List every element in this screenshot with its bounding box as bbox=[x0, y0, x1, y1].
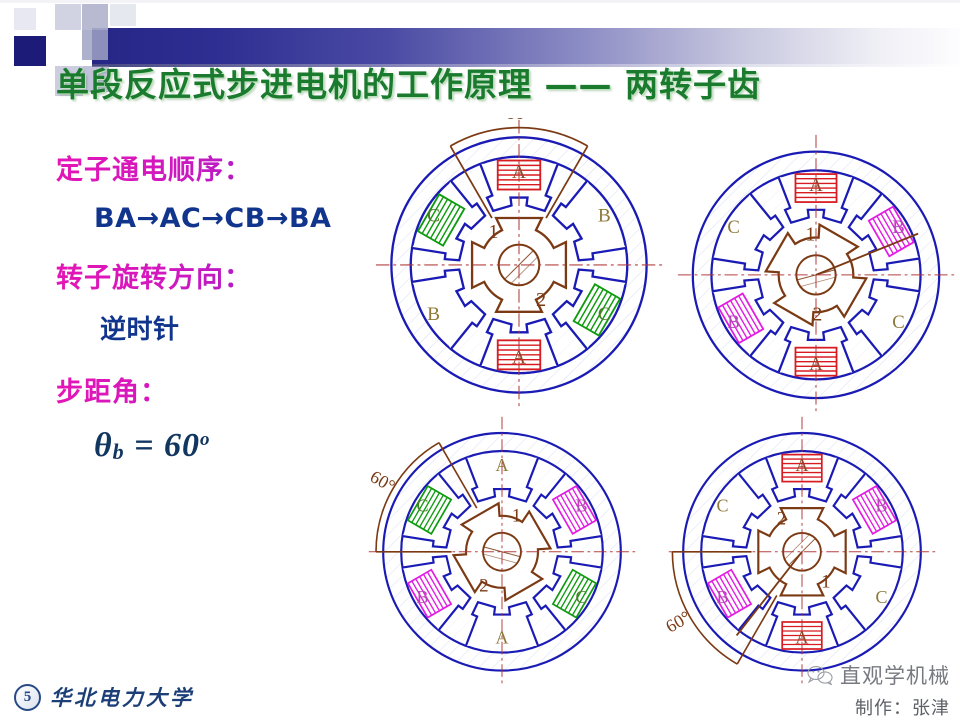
pole-label-C: C bbox=[575, 587, 587, 607]
header-deco-square-2 bbox=[82, 4, 108, 30]
pole-label-B: B bbox=[716, 587, 728, 607]
step-2-AC-energized-svg: ABCABC12 bbox=[676, 133, 956, 413]
header-top-rule bbox=[0, 0, 960, 3]
theta-subscript: b bbox=[113, 439, 125, 464]
watermark-block: 直观学机械 制作：张津 bbox=[807, 660, 950, 720]
slide-root: 单段反应式步进电机的工作原理 —— 两转子齿 定子通电顺序： BA→AC→CB→… bbox=[0, 0, 960, 720]
university-name: 华北电力大学 bbox=[50, 682, 194, 712]
motor-diagram-step-2: ABCABC12 bbox=[676, 133, 956, 413]
pole-label-B: B bbox=[598, 205, 611, 226]
pole-label-B: B bbox=[727, 312, 739, 333]
rotor-tooth-label-2: 2 bbox=[536, 289, 546, 311]
direction-heading: 转子旋转方向： bbox=[56, 256, 396, 295]
degree-symbol: o bbox=[200, 429, 211, 450]
motor-diagram-step-4: ABCABC1260° bbox=[652, 415, 952, 685]
watermark-row: 直观学机械 bbox=[807, 660, 950, 690]
pole-label-B: B bbox=[416, 587, 428, 607]
rotor-tooth-label-2: 2 bbox=[813, 305, 823, 326]
step-4-BA-energized-svg: ABCABC1260° bbox=[652, 415, 952, 685]
step-1-BA-energized-svg: ABCABC1260° bbox=[374, 118, 664, 408]
university-logo-mark: 5 bbox=[14, 684, 41, 711]
step-angle-formula: θb = 60o bbox=[94, 427, 396, 465]
wechat-icon bbox=[807, 665, 833, 685]
angle-label: 60° bbox=[505, 118, 532, 124]
motor-diagram-step-1: ABCABC1260° bbox=[374, 118, 664, 408]
header-deco-square-3 bbox=[55, 30, 81, 60]
angle-label: 60° bbox=[662, 607, 694, 637]
theta-symbol: θ bbox=[94, 427, 113, 464]
pole-label-C: C bbox=[427, 205, 440, 226]
pole-label-C: C bbox=[875, 587, 887, 607]
header-deco-square-1 bbox=[55, 4, 81, 30]
left-text-panel: 定子通电顺序： BA→AC→CB→BA 转子旋转方向： 逆时针 步距角： θb … bbox=[56, 148, 396, 465]
pole-label-C: C bbox=[716, 495, 728, 515]
pole-label-B: B bbox=[427, 304, 440, 325]
pole-label-C: C bbox=[727, 217, 739, 238]
header-deco-square-light bbox=[110, 4, 136, 26]
sequence-heading: 定子通电顺序： bbox=[56, 148, 396, 187]
page-title: 单段反应式步进电机的工作原理 —— 两转子齿 bbox=[56, 58, 936, 106]
rotor-tooth-label-1: 1 bbox=[806, 225, 816, 246]
header-deco-square-pale bbox=[14, 8, 36, 30]
watermark-title: 直观学机械 bbox=[840, 660, 950, 690]
header-deco-square-dark bbox=[14, 36, 46, 66]
motor-diagram-step-3: ABCABC1260° bbox=[352, 415, 652, 685]
sequence-value: BA→AC→CB→BA bbox=[94, 203, 396, 234]
rotor-tooth-label-1: 1 bbox=[512, 505, 521, 526]
rotor-tooth-label-1: 1 bbox=[821, 572, 830, 593]
pole-label-B: B bbox=[875, 495, 887, 515]
university-logo: 5 华北电力大学 bbox=[14, 682, 194, 712]
direction-value: 逆时针 bbox=[100, 309, 396, 346]
pole-label-B: B bbox=[892, 217, 904, 238]
pole-label-C: C bbox=[416, 495, 428, 515]
rotor-tooth-label-2: 2 bbox=[479, 575, 488, 596]
pole-label-C: C bbox=[892, 312, 904, 333]
pole-label-C: C bbox=[598, 304, 611, 325]
rotor-tooth-label-2: 2 bbox=[777, 508, 786, 529]
header-deco-square-4 bbox=[82, 30, 108, 60]
equals-value: = 60 bbox=[125, 427, 200, 464]
angle-label: 60° bbox=[367, 466, 399, 496]
rotor-tooth-label-1: 1 bbox=[488, 221, 498, 243]
pole-label-B: B bbox=[575, 495, 587, 515]
step-angle-heading: 步距角： bbox=[56, 370, 396, 409]
watermark-author: 制作：张津 bbox=[807, 694, 950, 720]
step-3-CB-energized-svg: ABCABC1260° bbox=[352, 415, 652, 685]
